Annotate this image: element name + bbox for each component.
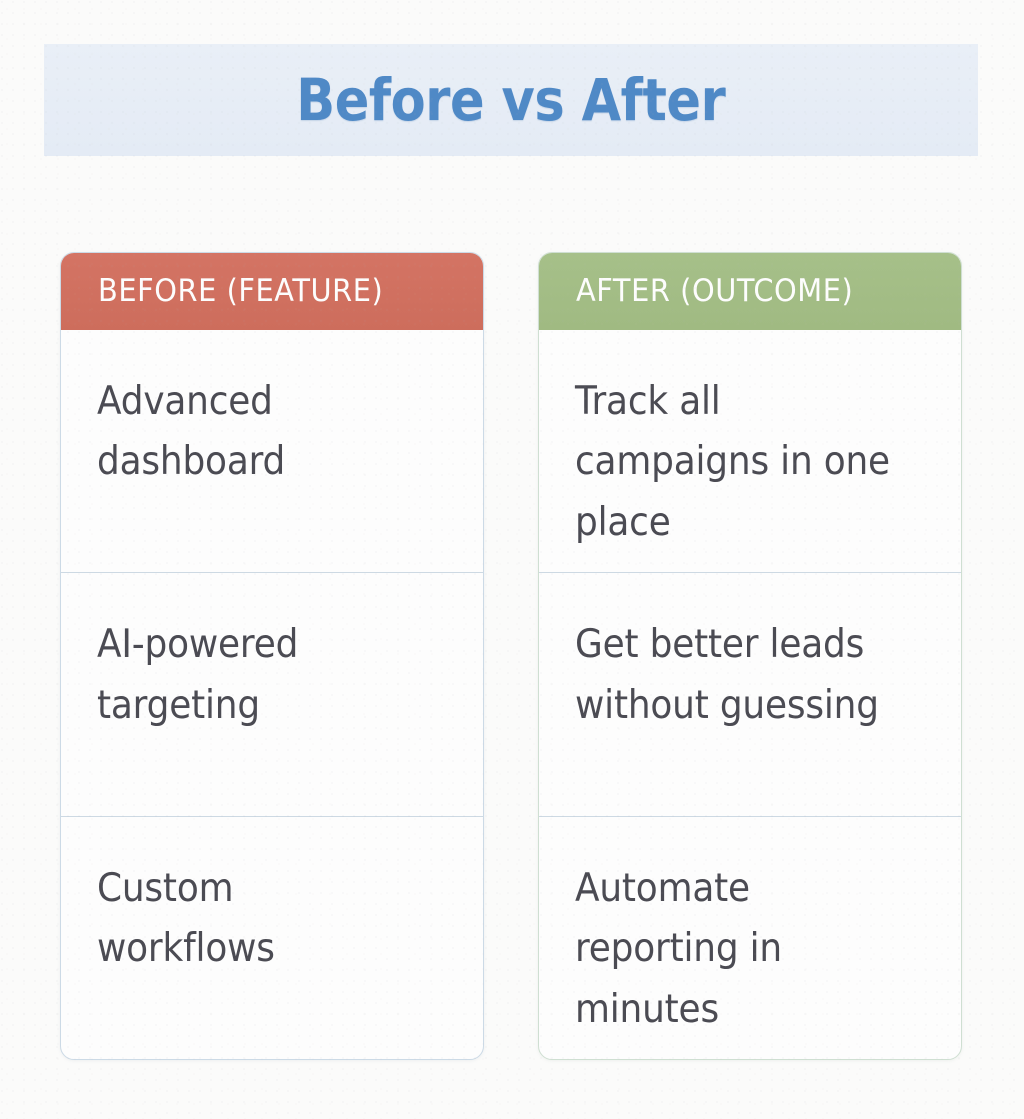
comparison-card-before: BEFORE (FEATURE) Advanced dashboard AI-p… <box>60 252 484 1060</box>
card-header-label-after: AFTER (OUTCOME) <box>576 273 853 309</box>
card-body-after: Track all campaigns in one place Get bet… <box>539 330 961 1059</box>
row-text: Advanced dashboard <box>97 372 421 493</box>
row-text: Track all campaigns in one place <box>575 372 899 553</box>
row-text: Automate reporting in minutes <box>575 859 899 1040</box>
title-banner: Before vs After <box>44 44 978 156</box>
card-header-after: AFTER (OUTCOME) <box>538 252 962 330</box>
table-row: Advanced dashboard <box>61 330 483 572</box>
card-header-before: BEFORE (FEATURE) <box>60 252 484 330</box>
comparison-card-after: AFTER (OUTCOME) Track all campaigns in o… <box>538 252 962 1060</box>
table-row: AI-powered targeting <box>61 572 483 815</box>
row-text: Custom workflows <box>97 859 421 980</box>
card-body-before: Advanced dashboard AI-powered targeting … <box>61 330 483 1059</box>
table-row: Automate reporting in minutes <box>539 816 961 1059</box>
table-row: Track all campaigns in one place <box>539 330 961 572</box>
row-text: AI-powered targeting <box>97 615 421 736</box>
row-text: Get better leads without guessing <box>575 615 899 736</box>
page-title: Before vs After <box>296 66 725 134</box>
table-row: Get better leads without guessing <box>539 572 961 815</box>
table-row: Custom workflows <box>61 816 483 1059</box>
card-header-label-before: BEFORE (FEATURE) <box>98 273 383 309</box>
